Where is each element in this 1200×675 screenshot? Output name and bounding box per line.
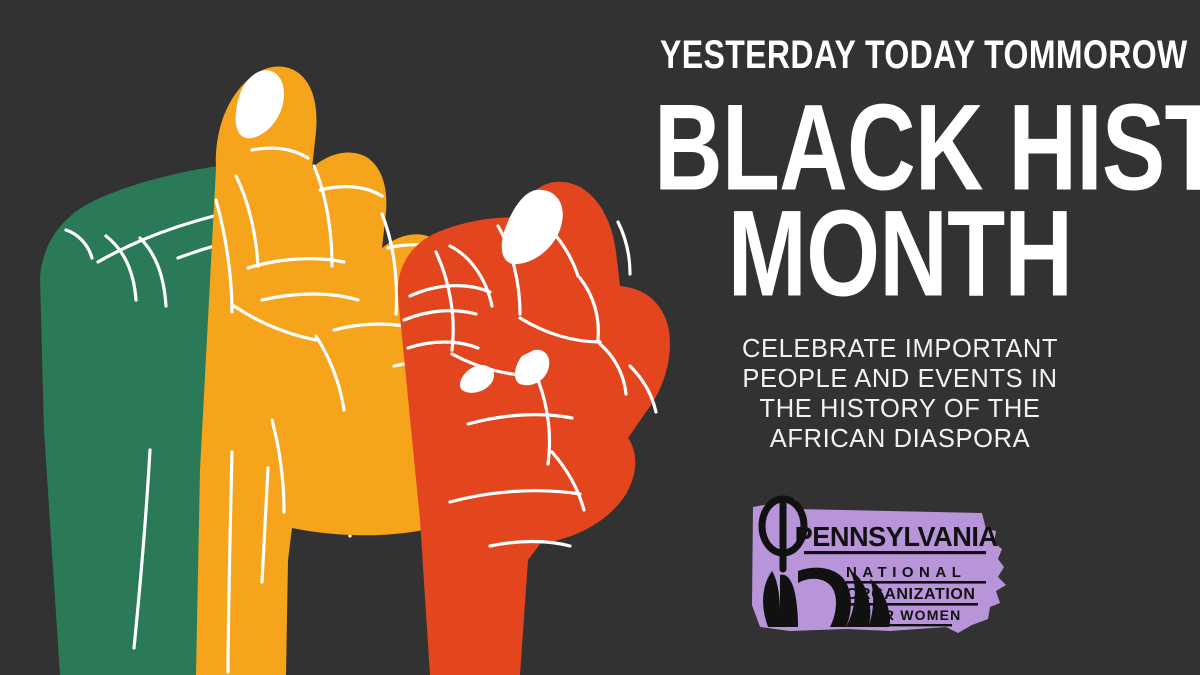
logo-line-3: FOR WOMEN xyxy=(862,607,961,623)
poster-text-column: YESTERDAY TODAY TOMMOROW BLACK HISTORY M… xyxy=(600,0,1200,675)
poster-blurb: CELEBRATE IMPORTANT PEOPLE AND EVENTS IN… xyxy=(640,334,1160,454)
poster-headline-line-2: MONTH xyxy=(654,198,1146,308)
logo-rule-4 xyxy=(860,624,952,626)
logo-rule-3 xyxy=(846,603,978,606)
pennsylvania-now-logo: PENNSYLVANIA NATIONAL ORGANIZATION FOR W… xyxy=(750,485,1020,635)
poster-blurb-line-3: THE HISTORY OF THE xyxy=(640,394,1160,424)
poster-canvas: YESTERDAY TODAY TOMMOROW BLACK HISTORY M… xyxy=(0,0,1200,675)
poster-blurb-line-1: CELEBRATE IMPORTANT xyxy=(640,334,1160,364)
logo-line-2: ORGANIZATION xyxy=(846,586,976,603)
logo-wordmark: PENNSYLVANIA xyxy=(795,521,998,552)
logo-rule-1 xyxy=(804,551,986,554)
three-raised-fists-illustration xyxy=(0,0,700,675)
logo-line-1: NATIONAL xyxy=(846,564,966,581)
logo-rule-2 xyxy=(846,581,986,584)
poster-blurb-line-4: AFRICAN DIASPORA xyxy=(640,424,1160,454)
poster-blurb-line-2: PEOPLE AND EVENTS IN xyxy=(640,364,1160,394)
poster-eyebrow: YESTERDAY TODAY TOMMOROW xyxy=(660,32,1140,78)
